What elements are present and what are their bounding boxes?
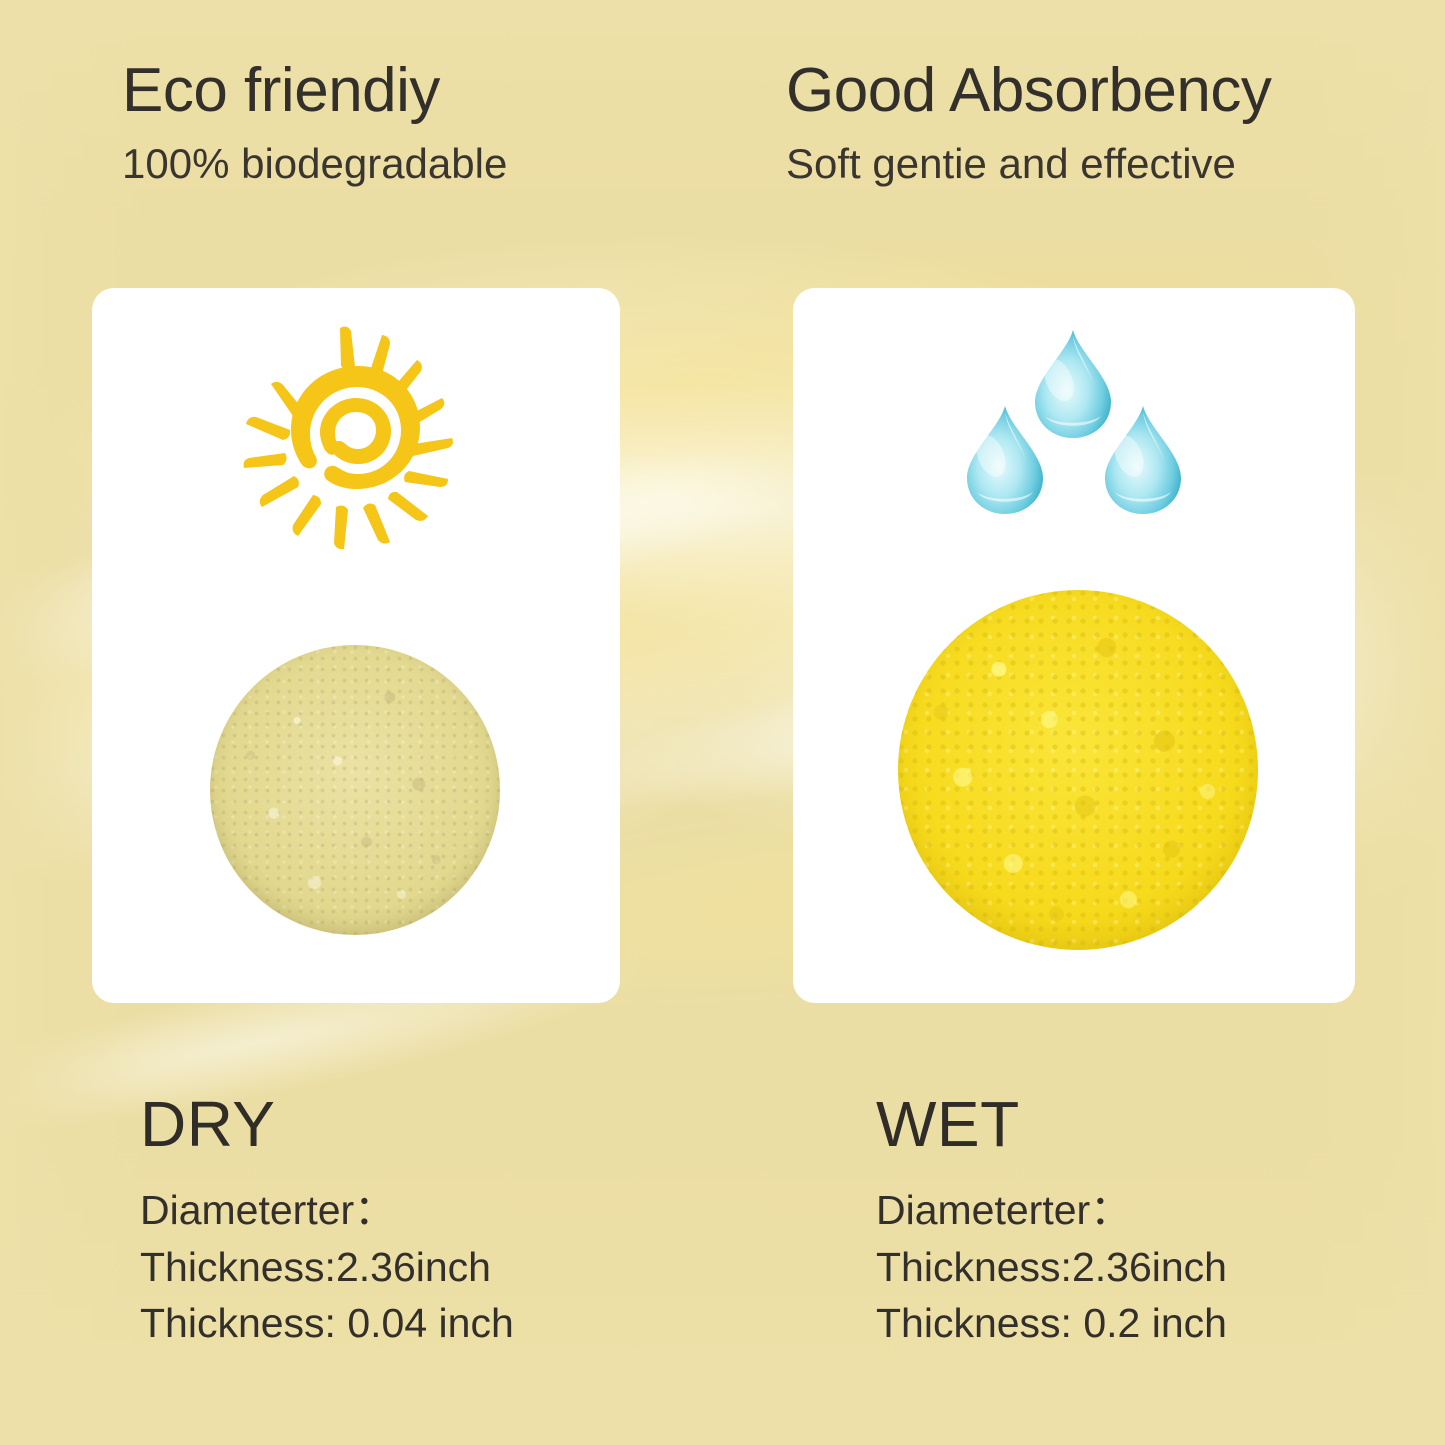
wet-state-label: WET [876, 1092, 1227, 1156]
heading-eco-friendly: Eco friendiy 100% biodegradable [122, 58, 507, 187]
wet-spec-lines: Diameterter： Thickness:2.36inch Thicknes… [876, 1182, 1227, 1352]
water-drop-icon-right [1101, 404, 1185, 516]
product-infographic: Eco friendiy 100% biodegradable Good Abs… [0, 0, 1445, 1445]
wet-spec-thickness-2: Thickness: 0.2 inch [876, 1295, 1227, 1352]
wet-sponge [898, 590, 1258, 950]
dry-spec-thickness-2: Thickness: 0.04 inch [140, 1295, 514, 1352]
dry-state-label: DRY [140, 1092, 514, 1156]
dry-sponge [210, 645, 500, 935]
wet-spec-thickness-1: Thickness:2.36inch [876, 1239, 1227, 1296]
wet-spec-block: WET Diameterter： Thickness:2.36inch Thic… [876, 1092, 1227, 1352]
heading-subtitle-right: Soft gentie and effective [786, 141, 1271, 187]
dry-spec-block: DRY Diameterter： Thickness:2.36inch Thic… [140, 1092, 514, 1352]
heading-title-left: Eco friendiy [122, 58, 507, 123]
heading-good-absorbency: Good Absorbency Soft gentie and effectiv… [786, 58, 1271, 187]
dry-spec-diameter: Diameterter： [140, 1182, 514, 1239]
sun-icon [232, 322, 482, 572]
heading-title-right: Good Absorbency [786, 58, 1271, 123]
water-drop-icon-left [963, 404, 1047, 516]
wet-spec-diameter: Diameterter： [876, 1182, 1227, 1239]
dry-spec-lines: Diameterter： Thickness:2.36inch Thicknes… [140, 1182, 514, 1352]
dry-spec-thickness-1: Thickness:2.36inch [140, 1239, 514, 1296]
heading-subtitle-left: 100% biodegradable [122, 141, 507, 187]
